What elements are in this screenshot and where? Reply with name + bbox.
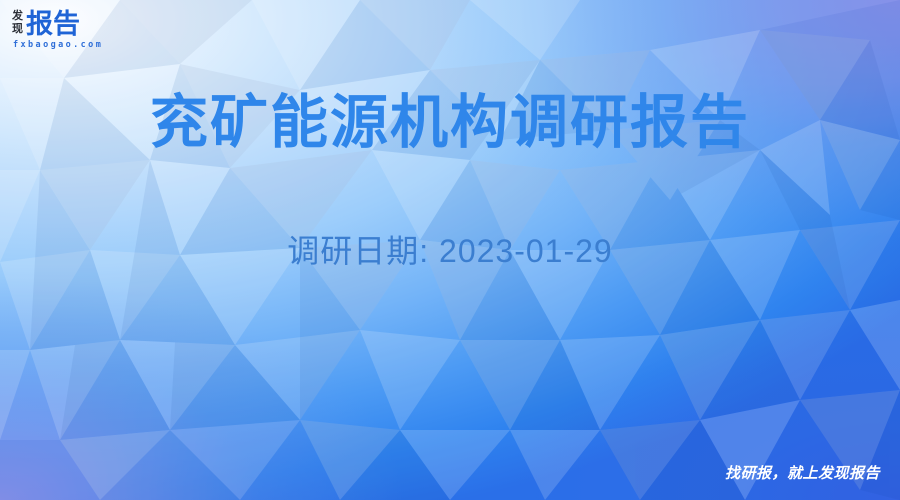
footer-tagline: 找研报，就上发现报告 [725,462,880,483]
report-cover-slide: 发 现 报告 fxbaogao.com 兖矿能源机构调研报告 调研日期: 202… [0,0,900,500]
brand-logo-url: fxbaogao.com [13,40,162,50]
brand-logo-mark-line2: 现 [12,24,23,37]
brand-logo[interactable]: 发 现 报告 fxbaogao.com [12,8,162,56]
cover-title: 兖矿能源机构调研报告 [0,88,900,158]
brand-logo-wordmark: 报告 [26,10,80,38]
brand-logo-row: 发 现 报告 [12,8,162,38]
brand-logo-mark: 发 现 [12,11,23,38]
cover-subtitle: 调研日期: 2023-01-29 [0,228,900,274]
